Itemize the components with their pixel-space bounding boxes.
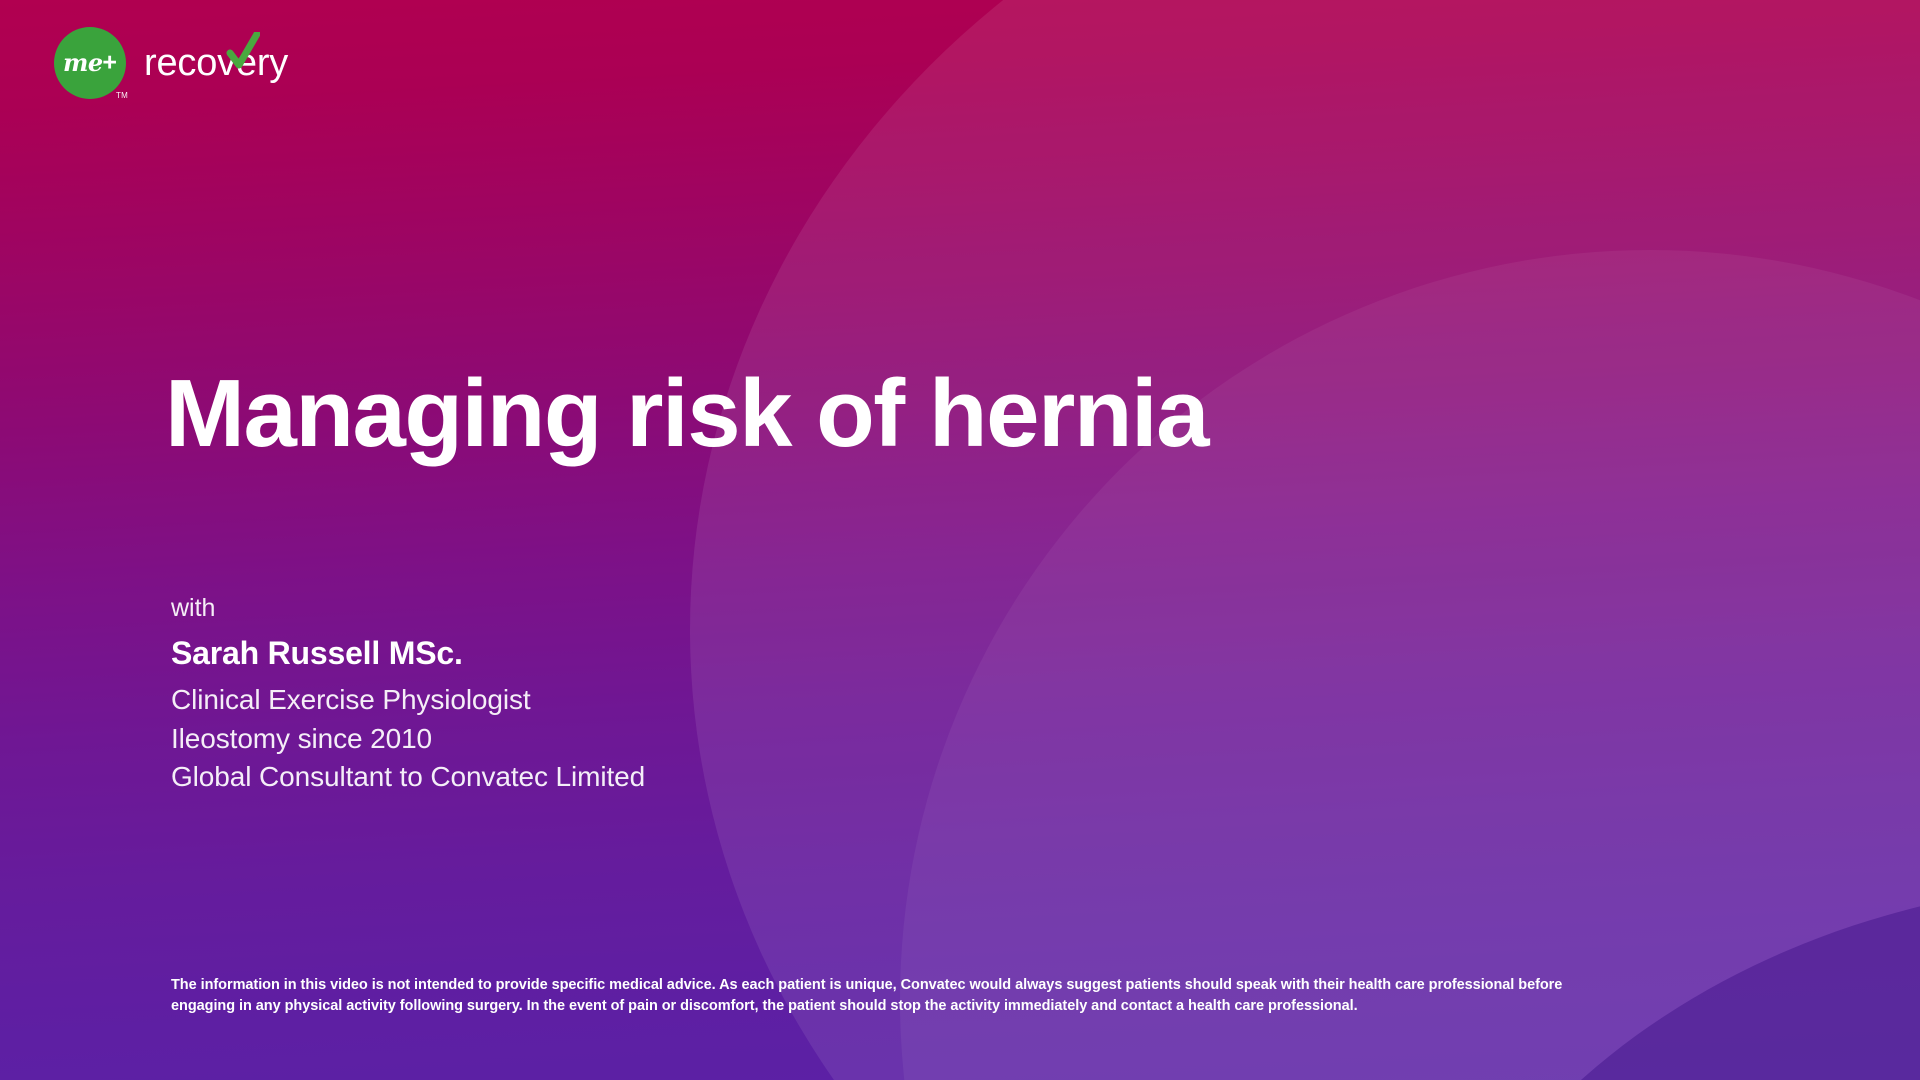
speaker-block: with Sarah Russell MSc. Clinical Exercis… bbox=[171, 592, 645, 796]
speaker-credential-3: Global Consultant to Convatec Limited bbox=[171, 758, 645, 796]
logo-circle-mark: me + TM bbox=[54, 27, 126, 99]
presentation-slide: me + TM recovery Managing risk of hernia… bbox=[0, 0, 1920, 1080]
plus-icon: + bbox=[102, 51, 117, 76]
slide-title: Managing risk of hernia bbox=[165, 364, 1208, 465]
checkmark-icon bbox=[226, 32, 260, 72]
trademark-symbol: TM bbox=[116, 91, 128, 100]
speaker-with-label: with bbox=[171, 592, 645, 626]
speaker-credential-2: Ileostomy since 2010 bbox=[171, 720, 645, 758]
logo-wordmark: recovery bbox=[144, 44, 288, 82]
background-curve-large bbox=[690, 0, 1920, 1080]
logo-wordmark-text: recovery bbox=[144, 42, 288, 84]
disclaimer-text: The information in this video is not int… bbox=[171, 975, 1591, 1018]
brand-logo: me + TM recovery bbox=[54, 27, 288, 99]
speaker-name: Sarah Russell MSc. bbox=[171, 633, 645, 675]
speaker-credential-1: Clinical Exercise Physiologist bbox=[171, 681, 645, 719]
logo-me-text: me bbox=[63, 51, 103, 75]
